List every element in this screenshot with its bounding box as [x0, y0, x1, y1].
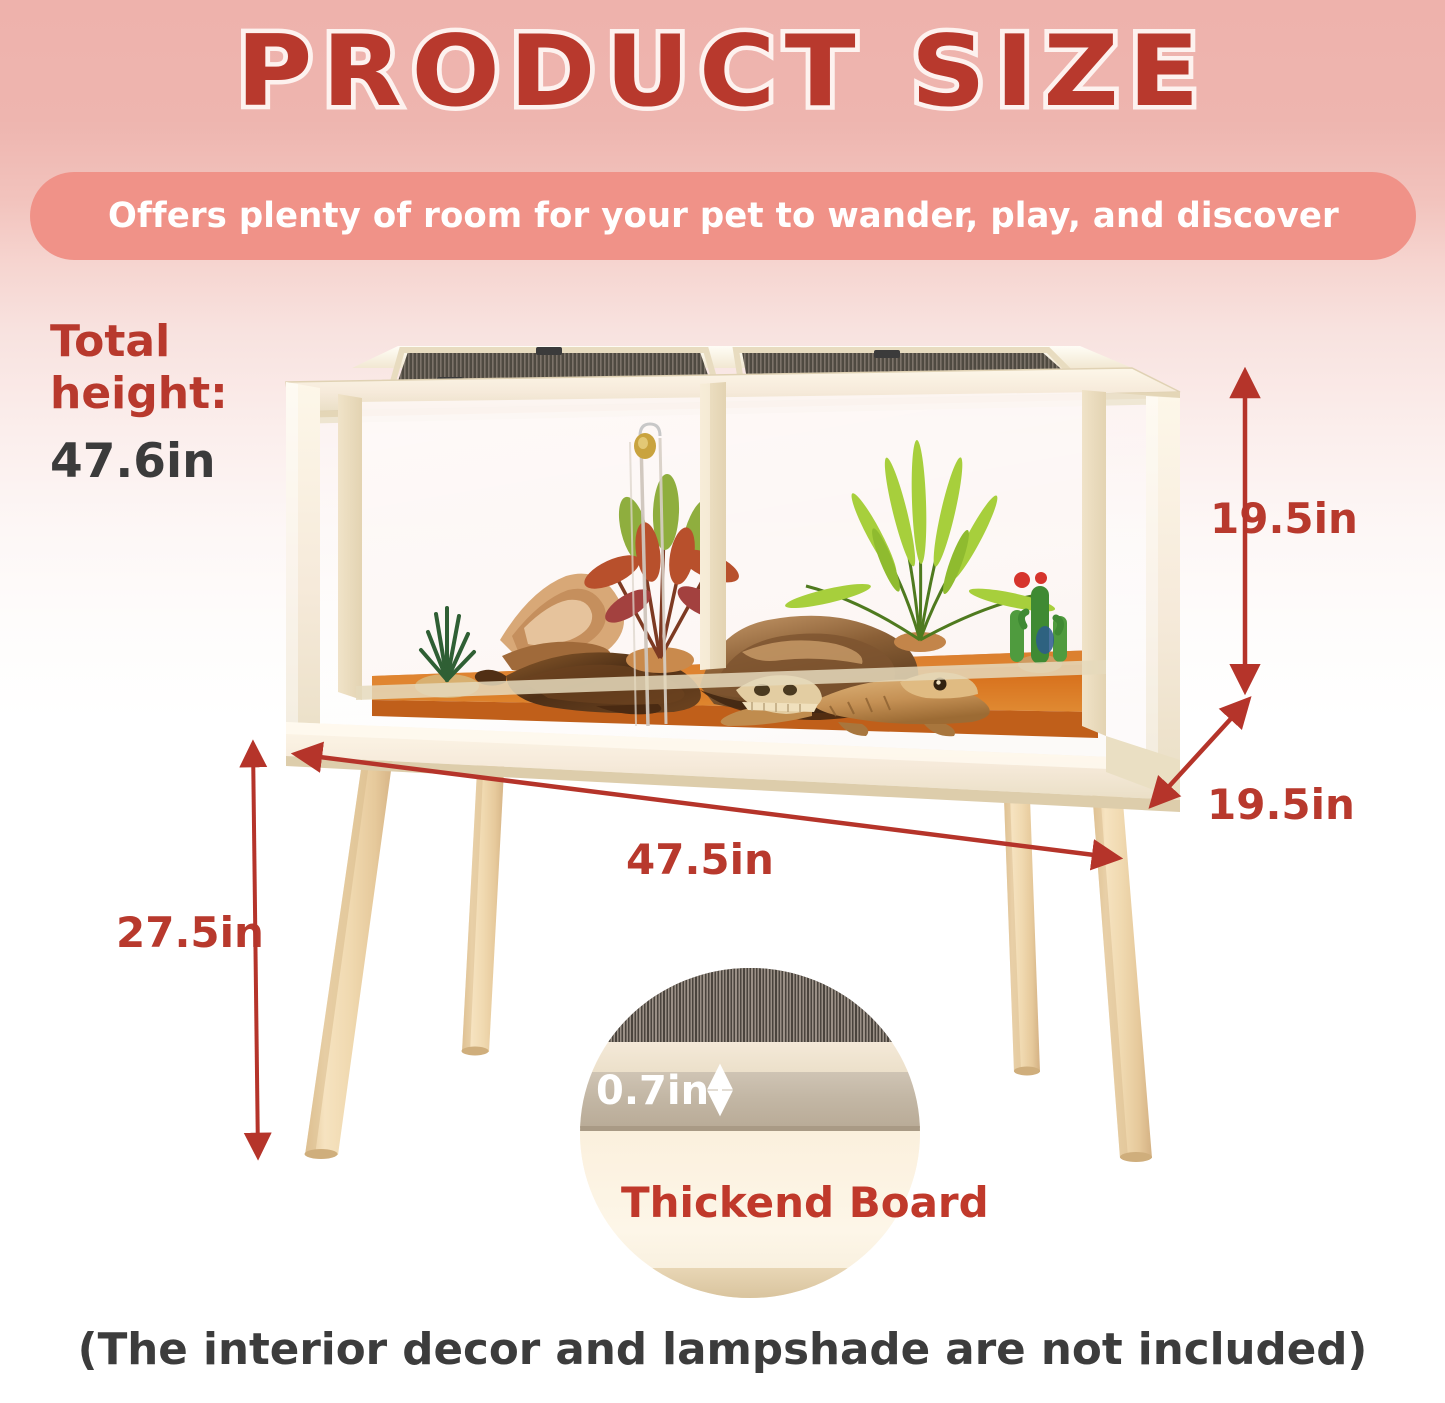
label-enclosure-depth: 19.5in [1207, 780, 1355, 830]
footer-disclaimer: (The interior decor and lampshade are no… [7, 1324, 1438, 1375]
label-enclosure-height: 19.5in [1210, 494, 1358, 544]
value-total-height: 47.6in [50, 434, 216, 489]
arrow-board-thickness [705, 1062, 735, 1118]
label-total-height-line1: Totalheight: [50, 316, 228, 419]
label-leg-height: 27.5in [116, 908, 264, 958]
detail-mesh-layer [580, 968, 920, 1042]
label-total-height: Totalheight: [50, 316, 228, 420]
label-board-thickness: 0.7in [596, 1068, 709, 1114]
label-thickened-board: Thickend Board [621, 1178, 989, 1227]
label-enclosure-width: 47.5in [626, 835, 774, 885]
detail-bottom-shelf [640, 1268, 870, 1298]
product-size-infographic: PRODUCT SIZE Offers plenty of room for y… [0, 0, 1445, 1403]
thickened-board-detail-circle [580, 968, 920, 1298]
